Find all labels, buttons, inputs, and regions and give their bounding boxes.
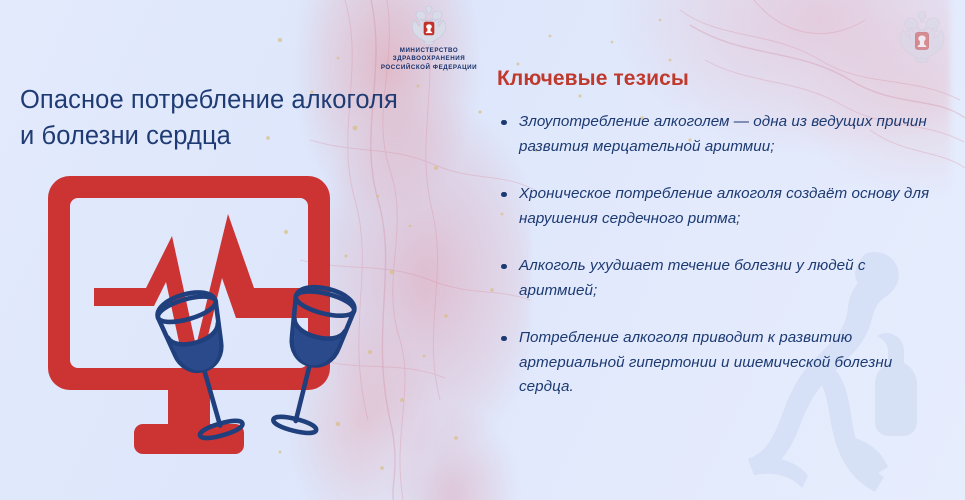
russian-coat-of-arms-watermark-icon [893, 6, 951, 64]
key-points-list: Злоупотребление алкоголем — одна из веду… [497, 110, 947, 400]
ministry-emblem: МИНИСТЕРСТВО ЗДРАВООХРАНЕНИЯ РОССИЙСКОЙ … [380, 2, 478, 68]
list-item-text: Потребление алкоголя приводит к развитию… [519, 329, 892, 395]
emblem-line-2: ЗДРАВООХРАНЕНИЯ [380, 55, 478, 62]
title-line-2: и болезни сердца [20, 118, 460, 154]
list-item: Потребление алкоголя приводит к развитию… [497, 326, 947, 400]
title-line-1: Опасное потребление алкоголя [20, 82, 460, 118]
bullet-dot-icon [501, 192, 507, 198]
list-item: Хроническое потребление алкоголя создаёт… [497, 182, 947, 231]
ecg-heart-monitor-icon [48, 176, 330, 454]
key-points-panel: Ключевые тезисы Злоупотребление алкоголе… [497, 66, 947, 400]
slide-root: МИНИСТЕРСТВО ЗДРАВООХРАНЕНИЯ РОССИЙСКОЙ … [0, 0, 965, 500]
panel-heading: Ключевые тезисы [497, 66, 947, 92]
list-item-text: Злоупотребление алкоголем — одна из веду… [519, 113, 927, 155]
list-item: Алкоголь ухудшает течение болезни у люде… [497, 254, 947, 303]
emblem-line-3: РОССИЙСКОЙ ФЕДЕРАЦИИ [380, 64, 478, 71]
bullet-dot-icon [501, 120, 507, 126]
list-item-text: Хроническое потребление алкоголя создаёт… [519, 185, 929, 227]
list-item-text: Алкоголь ухудшает течение болезни у люде… [519, 257, 866, 299]
double-headed-eagle-icon [407, 2, 451, 46]
list-item: Злоупотребление алкоголем — одна из веду… [497, 110, 947, 159]
slide-title: Опасное потребление алкоголя и болезни с… [20, 82, 460, 154]
illustration-group [48, 176, 458, 476]
bullet-dot-icon [501, 336, 507, 342]
emblem-line-1: МИНИСТЕРСТВО [380, 47, 478, 54]
bullet-dot-icon [501, 264, 507, 270]
